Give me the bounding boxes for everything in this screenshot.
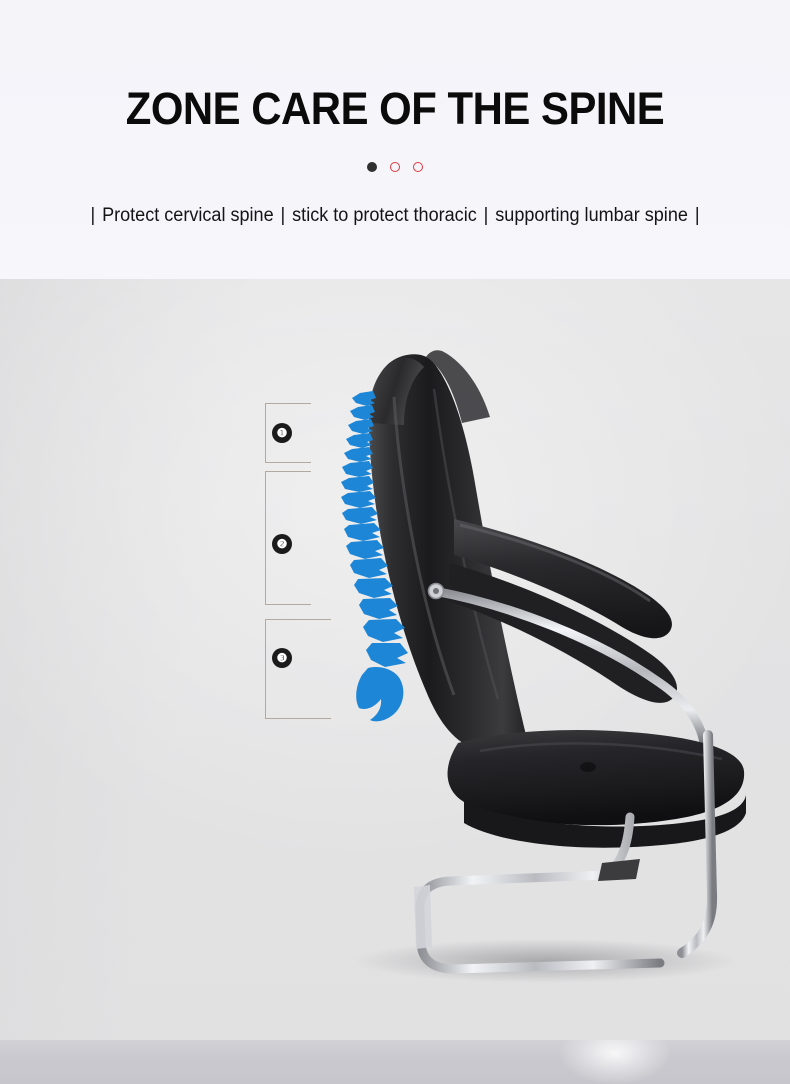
subtitle-separator-1: | — [279, 205, 287, 226]
chair-floor-shadow — [355, 939, 735, 983]
infographic-page: ZONE CARE OF THE SPINE | Protect cervica… — [0, 0, 790, 1084]
header-subtitle: | Protect cervical spine | stick to prot… — [20, 203, 771, 229]
subtitle-item-2: stick to protect thoracic — [292, 205, 477, 226]
callout-bracket-3 — [265, 619, 331, 719]
page-title: ZONE CARE OF THE SPINE — [28, 82, 763, 136]
callout-marker-1: ❶ — [272, 423, 292, 443]
chair-arm-pivot-center — [433, 588, 439, 594]
carousel-dot-3[interactable] — [413, 162, 423, 172]
subtitle-item-3: supporting lumbar spine — [495, 205, 688, 226]
carousel-dot-1[interactable] — [367, 162, 377, 172]
subtitle-item-1: Protect cervical spine — [102, 205, 274, 226]
subtitle-bar-open: | — [89, 205, 97, 226]
floor-light-reflection — [560, 1040, 670, 1084]
floor-strip — [0, 1040, 790, 1084]
chair-seat-tuft — [580, 762, 596, 772]
callout-list: Protect cervical spine ❶ stick to protec… — [0, 279, 360, 1084]
header-band: ZONE CARE OF THE SPINE | Protect cervica… — [0, 0, 790, 279]
subtitle-separator-2: | — [482, 205, 490, 226]
callout-marker-3: ❸ — [272, 648, 292, 668]
subtitle-bar-close: | — [693, 205, 701, 226]
chair-base-bracket — [598, 859, 640, 881]
product-scene: Protect cervical spine ❶ stick to protec… — [0, 279, 790, 1084]
chair-base-glide — [414, 885, 432, 949]
carousel-dot-2[interactable] — [390, 162, 400, 172]
callout-marker-2: ❷ — [272, 534, 292, 554]
carousel-dots — [0, 162, 790, 172]
